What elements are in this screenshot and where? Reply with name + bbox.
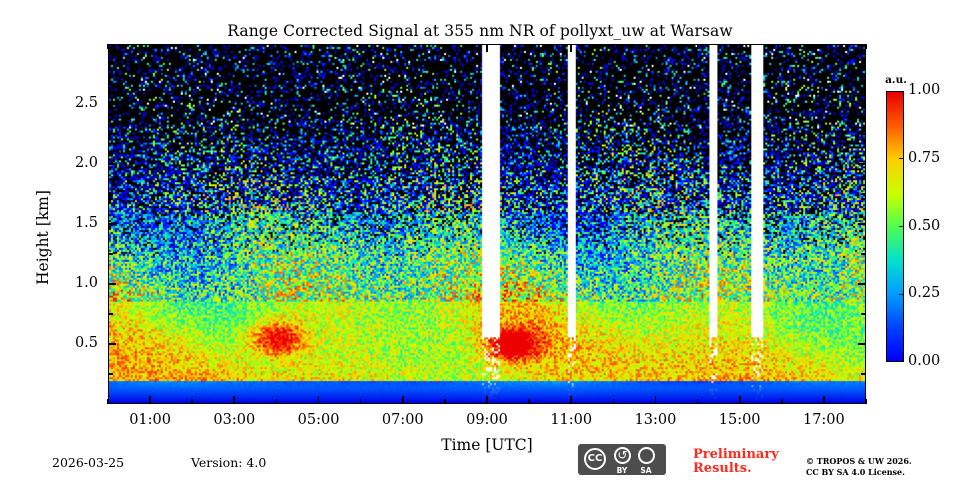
- y-axis-major-tick: [858, 283, 866, 285]
- colorbar-tick-label: 0.50: [908, 218, 940, 234]
- x-axis-major-tick: [570, 44, 572, 52]
- x-axis-tick-label: 07:00: [368, 412, 438, 428]
- x-axis-minor-tick: [865, 44, 867, 49]
- x-axis-minor-tick: [360, 399, 362, 404]
- preliminary-notice: Preliminary Results.: [693, 448, 793, 475]
- x-axis-major-tick: [149, 44, 151, 52]
- y-axis-major-tick: [858, 343, 866, 345]
- x-axis-major-tick: [570, 396, 572, 404]
- colorbar-tick: [899, 158, 904, 159]
- x-axis-major-tick: [486, 44, 488, 52]
- x-axis-tick-label: 01:00: [115, 412, 185, 428]
- cc-sa-label: SA: [634, 466, 658, 475]
- x-axis-tick-label: 11:00: [536, 412, 606, 428]
- x-axis-minor-tick: [360, 44, 362, 49]
- y-axis-major-tick: [858, 103, 866, 105]
- y-axis-minor-tick: [108, 253, 113, 255]
- x-axis-minor-tick: [865, 399, 867, 404]
- x-axis-major-tick: [486, 396, 488, 404]
- x-axis-minor-tick: [107, 399, 109, 404]
- x-axis-minor-tick: [107, 44, 109, 49]
- copyright-notice: © TROPOS & UW 2026. CC BY SA 4.0 License…: [806, 456, 912, 477]
- x-axis-major-tick: [233, 396, 235, 404]
- x-axis-major-tick: [739, 396, 741, 404]
- copyright-line-2: CC BY SA 4.0 License.: [806, 467, 912, 478]
- x-axis-major-tick: [149, 396, 151, 404]
- y-axis-minor-tick: [108, 133, 113, 135]
- y-axis-minor-tick: [108, 313, 113, 315]
- x-axis-minor-tick: [444, 399, 446, 404]
- y-axis-major-tick: [108, 343, 116, 345]
- y-axis-minor-tick: [108, 373, 113, 375]
- x-axis-minor-tick: [781, 44, 783, 49]
- x-axis-minor-tick: [781, 399, 783, 404]
- x-axis-minor-tick: [697, 44, 699, 49]
- x-axis-minor-tick: [444, 44, 446, 49]
- footer-date: 2026-03-25: [52, 455, 124, 470]
- y-axis-minor-tick: [861, 73, 866, 75]
- y-axis-minor-tick: [108, 193, 113, 195]
- x-axis-major-tick: [402, 44, 404, 52]
- y-axis-tick-label: 2.5: [48, 95, 98, 111]
- cc-logo-text: CC: [584, 448, 606, 470]
- y-axis-major-tick: [108, 223, 116, 225]
- colorbar-tick-label: 0.00: [908, 353, 940, 369]
- x-axis-minor-tick: [613, 399, 615, 404]
- x-axis-major-tick: [739, 44, 741, 52]
- footer-version: Version: 4.0: [191, 455, 266, 470]
- x-axis-tick-label: 13:00: [620, 412, 690, 428]
- colorbar-tick-label: 1.00: [908, 82, 940, 98]
- x-axis-major-tick: [823, 44, 825, 52]
- x-axis-minor-tick: [191, 399, 193, 404]
- cc-sa-glyph: ↺: [614, 447, 631, 464]
- x-axis-major-tick: [318, 396, 320, 404]
- y-axis-major-tick: [108, 103, 116, 105]
- x-axis-major-tick: [655, 396, 657, 404]
- x-axis-minor-tick: [528, 44, 530, 49]
- x-axis-tick-label: 17:00: [789, 412, 859, 428]
- x-axis-minor-tick: [276, 44, 278, 49]
- cc-license-badge[interactable]: CC i ↺ BY SA: [578, 444, 666, 475]
- x-axis-tick-label: 15:00: [705, 412, 775, 428]
- x-axis-major-tick: [402, 396, 404, 404]
- y-axis-minor-tick: [861, 253, 866, 255]
- x-axis-tick-label: 09:00: [452, 412, 522, 428]
- x-axis-tick-label: 03:00: [199, 412, 269, 428]
- y-axis-major-tick: [108, 163, 116, 165]
- y-axis-tick-label: 2.0: [48, 155, 98, 171]
- x-axis-major-tick: [233, 44, 235, 52]
- preliminary-line-2: Results.: [693, 462, 793, 476]
- y-axis-minor-tick: [108, 73, 113, 75]
- y-axis-tick-label: 1.5: [48, 215, 98, 231]
- y-axis-major-tick: [858, 163, 866, 165]
- x-axis-major-tick: [655, 44, 657, 52]
- cc-sa-share-icon: [638, 447, 655, 464]
- colorbar-tick-label: 0.25: [908, 285, 940, 301]
- x-axis-major-tick: [823, 396, 825, 404]
- x-axis-minor-tick: [191, 44, 193, 49]
- page-title: Range Corrected Signal at 355 nm NR of p…: [0, 22, 960, 40]
- y-axis-tick-label: 0.5: [48, 335, 98, 351]
- colorbar-tick-label: 0.75: [908, 150, 940, 166]
- y-axis-minor-tick: [861, 133, 866, 135]
- y-axis-minor-tick: [861, 193, 866, 195]
- y-axis-major-tick: [108, 283, 116, 285]
- x-axis-minor-tick: [613, 44, 615, 49]
- colorbar-tick: [899, 226, 904, 227]
- y-axis-title: Height [km]: [34, 190, 52, 285]
- copyright-line-1: © TROPOS & UW 2026.: [806, 456, 912, 467]
- lidar-quicklook-figure: Range Corrected Signal at 355 nm NR of p…: [0, 0, 960, 480]
- heatmap-canvas: [109, 45, 865, 403]
- y-axis-minor-tick: [861, 313, 866, 315]
- x-axis-tick-label: 05:00: [284, 412, 354, 428]
- x-axis-minor-tick: [276, 399, 278, 404]
- heatmap-plot-area: [108, 44, 866, 404]
- y-axis-minor-tick: [861, 373, 866, 375]
- x-axis-minor-tick: [697, 399, 699, 404]
- preliminary-line-1: Preliminary: [693, 448, 793, 462]
- x-axis-minor-tick: [528, 399, 530, 404]
- y-axis-major-tick: [858, 223, 866, 225]
- y-axis-tick-label: 1.0: [48, 275, 98, 291]
- cc-by-label: BY: [610, 466, 634, 475]
- x-axis-major-tick: [318, 44, 320, 52]
- colorbar-tick: [899, 294, 904, 295]
